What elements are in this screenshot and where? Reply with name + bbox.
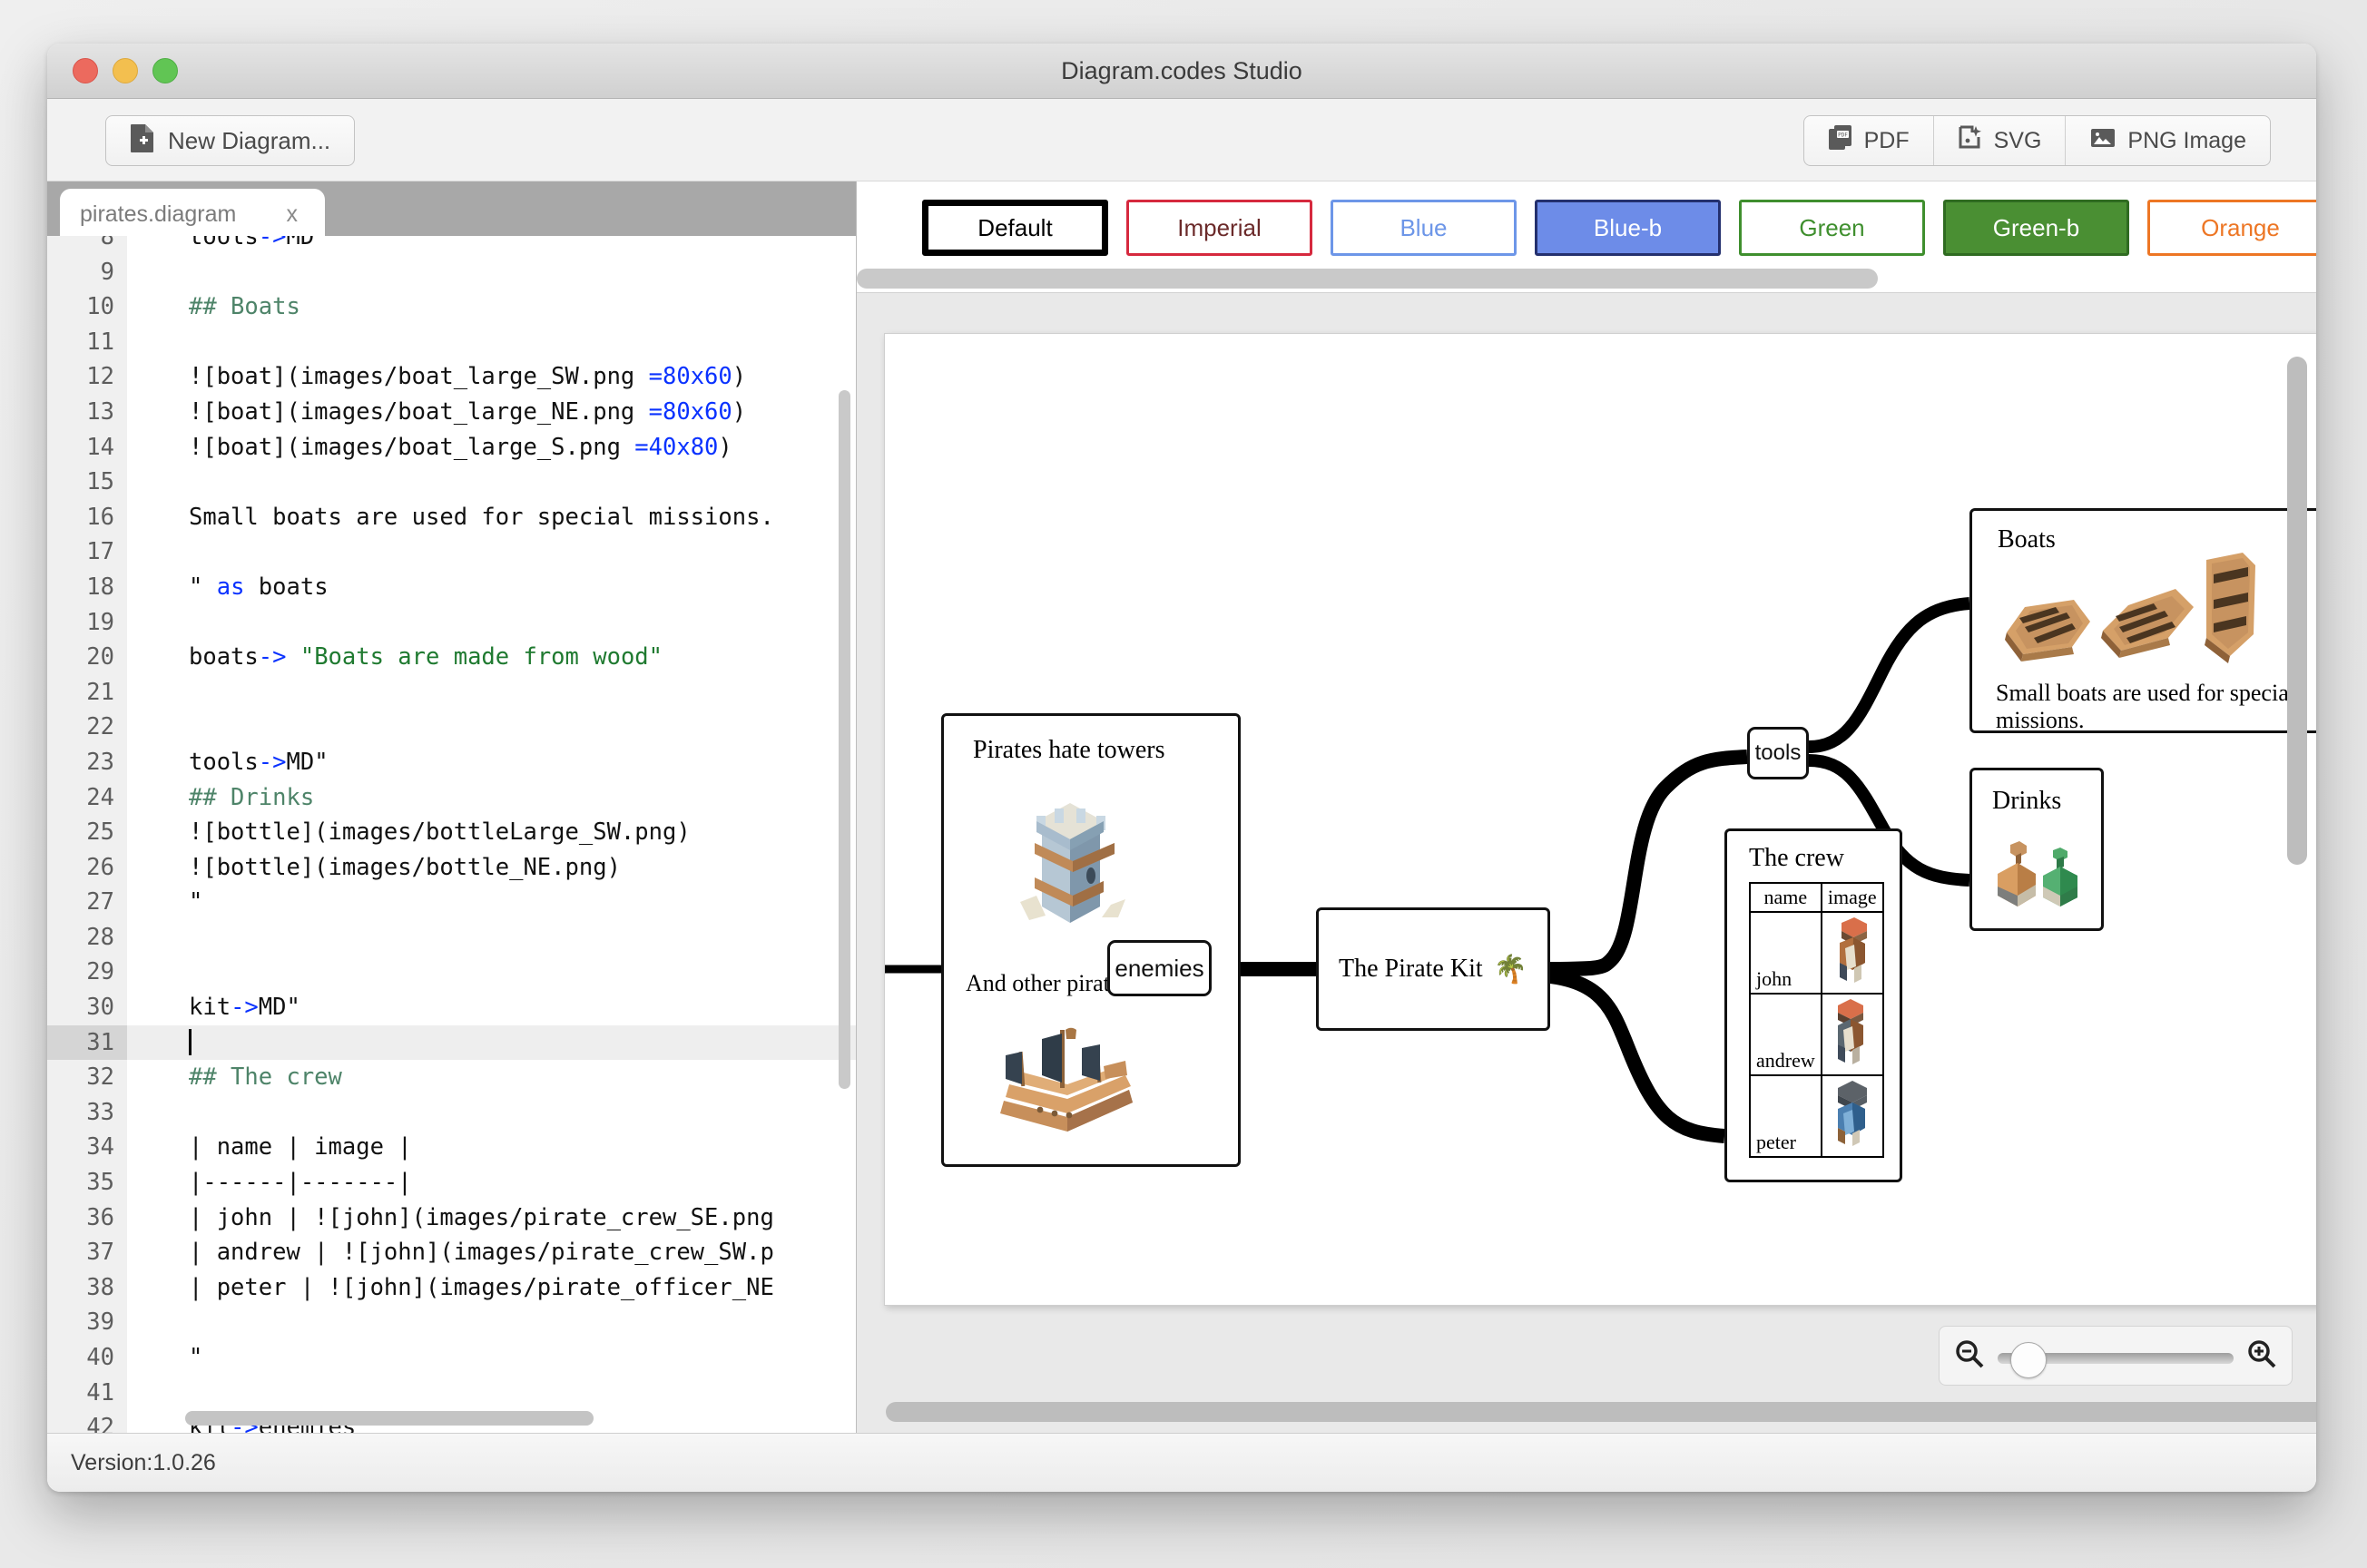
text-caret — [189, 1029, 192, 1055]
line-code[interactable]: tools->MD" — [127, 745, 856, 780]
tab-label: pirates.diagram — [80, 201, 236, 228]
toolbar: New Diagram... PDF PDF — [47, 99, 2316, 181]
app-window: Diagram.codes Studio New Diagram... — [47, 44, 2316, 1492]
code-line[interactable]: 10## Boats — [47, 289, 856, 325]
line-code[interactable]: ![boat](images/boat_large_SW.png =80x60) — [127, 359, 856, 395]
theme-button-default[interactable]: Default — [922, 200, 1108, 256]
code-line[interactable]: 37| andrew | ![john](images/pirate_crew_… — [47, 1235, 856, 1270]
zoom-slider[interactable] — [1998, 1349, 2234, 1362]
theme-button-green[interactable]: Green — [1739, 200, 1925, 256]
line-code[interactable] — [127, 255, 856, 290]
line-code[interactable] — [127, 325, 856, 360]
png-image-icon — [2089, 124, 2117, 158]
line-code[interactable] — [127, 920, 856, 955]
code-line[interactable]: 27" — [47, 885, 856, 920]
code-line[interactable]: 38| peter | ![john](images/pirate_office… — [47, 1270, 856, 1306]
node-towers-title: Pirates hate towers — [973, 736, 1165, 765]
line-number: 29 — [47, 955, 127, 990]
canvas-area: Pirates hate towers — [857, 292, 2316, 1433]
line-number: 41 — [47, 1376, 127, 1411]
line-number: 9 — [47, 255, 127, 290]
line-code[interactable]: | andrew | ![john](images/pirate_crew_SW… — [127, 1235, 856, 1270]
node-drinks-title: Drinks — [1992, 787, 2061, 816]
line-number: 28 — [47, 920, 127, 955]
crew-row: andrew — [1750, 994, 1883, 1075]
line-code[interactable] — [127, 1305, 856, 1340]
code-line[interactable]: 34| name | image | — [47, 1130, 856, 1165]
svg-text:PDF: PDF — [1838, 132, 1848, 138]
zoom-out-icon[interactable] — [1954, 1338, 1985, 1374]
tab-pirates-diagram[interactable]: pirates.diagram x — [60, 189, 325, 240]
theme-button-group[interactable]: DefaultImperialBlueBlue-bGreenGreen-bOra… — [922, 200, 2316, 256]
diagram-canvas[interactable]: Pirates hate towers — [884, 333, 2316, 1306]
code-line[interactable]: 40" — [47, 1340, 856, 1376]
line-number: 20 — [47, 640, 127, 675]
line-code[interactable]: Small boats are used for special mission… — [127, 500, 856, 535]
line-number: 34 — [47, 1130, 127, 1165]
line-code[interactable]: | john | ![john](images/pirate_crew_SE.p… — [127, 1200, 856, 1236]
code-line[interactable]: 12![boat](images/boat_large_SW.png =80x6… — [47, 359, 856, 395]
pdf-icon: PDF — [1828, 124, 1853, 158]
line-number: 25 — [47, 815, 127, 850]
zoom-in-icon[interactable] — [2246, 1338, 2277, 1374]
line-number: 31 — [47, 1025, 127, 1061]
line-number: 22 — [47, 710, 127, 745]
pirate-crew-se-icon — [1822, 912, 1883, 994]
code-line[interactable]: 19 — [47, 605, 856, 641]
theme-button-blue[interactable]: Blue — [1331, 200, 1517, 256]
node-drinks[interactable]: Drinks — [1969, 768, 2104, 931]
line-code[interactable]: | peter | ![john](images/pirate_officer_… — [127, 1270, 856, 1306]
line-number: 14 — [47, 430, 127, 465]
code-line[interactable]: 13![boat](images/boat_large_NE.png =80x6… — [47, 395, 856, 430]
version-label: Version:1.0.26 — [71, 1450, 216, 1476]
zoom-slider-thumb[interactable] — [2010, 1342, 2047, 1378]
line-code[interactable] — [127, 1376, 856, 1411]
preview-pane: DefaultImperialBlueBlue-bGreenGreen-bOra… — [857, 181, 2316, 1433]
line-code[interactable]: | name | image | — [127, 1130, 856, 1165]
line-code[interactable] — [127, 955, 856, 990]
main-split: pirates.diagram x 8tools->MD910## Boats1… — [47, 181, 2316, 1433]
line-number: 11 — [47, 325, 127, 360]
code-line[interactable]: 16Small boats are used for special missi… — [47, 500, 856, 535]
line-code[interactable]: boats-> "Boats are made from wood" — [127, 640, 856, 675]
line-number: 42 — [47, 1410, 127, 1433]
line-code[interactable]: ![bottle](images/bottleLarge_SW.png) — [127, 815, 856, 850]
export-button-group: PDF PDF SVG — [1803, 115, 2271, 166]
line-number: 12 — [47, 359, 127, 395]
code-line[interactable]: 29 — [47, 955, 856, 990]
line-number: 36 — [47, 1200, 127, 1236]
title-bar: Diagram.codes Studio — [47, 44, 2316, 99]
theme-bar: DefaultImperialBlueBlue-bGreenGreen-bOra… — [857, 181, 2316, 292]
code-line[interactable]: 15 — [47, 465, 856, 500]
line-code[interactable]: ## Drinks — [127, 780, 856, 816]
theme-button-orange[interactable]: Orange — [2147, 200, 2316, 256]
theme-button-blue-b[interactable]: Blue-b — [1535, 200, 1721, 256]
close-icon[interactable]: x — [287, 201, 299, 228]
line-code[interactable]: " — [127, 885, 856, 920]
node-boats-caption: Small boats are used for special mission… — [1996, 680, 2316, 734]
crew-name-cell: peter — [1750, 1075, 1822, 1157]
boat-sw-icon — [1994, 580, 2101, 671]
line-number: 40 — [47, 1340, 127, 1376]
new-file-icon — [130, 123, 155, 159]
export-png-label: PNG Image — [2127, 128, 2246, 154]
line-number: 8 — [47, 236, 127, 255]
line-code[interactable]: tools->MD — [127, 236, 856, 255]
tab-strip: pirates.diagram x — [47, 181, 856, 236]
code-line[interactable]: 33 — [47, 1095, 856, 1131]
line-number: 35 — [47, 1165, 127, 1200]
line-number: 15 — [47, 465, 127, 500]
code-line[interactable]: 30kit->MD" — [47, 990, 856, 1025]
status-bar: Version:1.0.26 — [47, 1433, 2316, 1492]
code-line[interactable]: 17 — [47, 534, 856, 570]
line-number: 33 — [47, 1095, 127, 1131]
code-line[interactable]: 36| john | ![john](images/pirate_crew_SE… — [47, 1200, 856, 1236]
code-lines[interactable]: 8tools->MD910## Boats1112![boat](images/… — [47, 236, 856, 1433]
tower-icon — [1002, 779, 1138, 938]
window-title: Diagram.codes Studio — [47, 44, 2316, 98]
export-svg-button[interactable]: SVG — [1934, 116, 2067, 165]
line-code[interactable] — [127, 605, 856, 641]
line-number: 10 — [47, 289, 127, 325]
code-line[interactable]: 9 — [47, 255, 856, 290]
line-code[interactable] — [127, 710, 856, 745]
crew-name-cell: andrew — [1750, 994, 1822, 1075]
pirate-officer-ne-icon — [1822, 1075, 1883, 1157]
line-code[interactable]: " as boats — [127, 570, 856, 605]
node-boats[interactable]: Boats — [1969, 508, 2316, 733]
line-code[interactable]: ![boat](images/boat_large_NE.png =80x60) — [127, 395, 856, 430]
boat-s-icon — [2194, 547, 2263, 668]
export-svg-label: SVG — [1994, 128, 2042, 154]
code-line[interactable]: 25![bottle](images/bottleLarge_SW.png) — [47, 815, 856, 850]
canvas-horizontal-scrollbar[interactable] — [886, 1402, 2316, 1422]
export-pdf-button[interactable]: PDF PDF — [1804, 116, 1934, 165]
code-line[interactable]: 22 — [47, 710, 856, 745]
palm-tree-icon: 🌴 — [1494, 954, 1527, 985]
line-code[interactable]: ![boat](images/boat_large_S.png =40x80) — [127, 430, 856, 465]
line-number: 37 — [47, 1235, 127, 1270]
crew-table: nameimagejohnandrewpeter — [1749, 882, 1884, 1158]
line-number: 18 — [47, 570, 127, 605]
line-number: 16 — [47, 500, 127, 535]
theme-button-imperial[interactable]: Imperial — [1126, 200, 1312, 256]
line-code[interactable]: " — [127, 1340, 856, 1376]
line-code[interactable]: kit->MD" — [127, 990, 856, 1025]
node-boats-title: Boats — [1998, 525, 2056, 554]
node-crew[interactable]: The crew nameimagejohnandrewpeter — [1724, 828, 1902, 1182]
line-number: 39 — [47, 1305, 127, 1340]
code-line[interactable]: 24## Drinks — [47, 780, 856, 816]
crew-row: john — [1750, 912, 1883, 994]
code-line[interactable]: 8tools->MD — [47, 236, 856, 255]
code-line[interactable]: 23tools->MD" — [47, 745, 856, 780]
code-line[interactable]: 20boats-> "Boats are made from wood" — [47, 640, 856, 675]
line-number: 23 — [47, 745, 127, 780]
export-pdf-label: PDF — [1864, 128, 1910, 154]
line-code[interactable] — [127, 1025, 856, 1061]
line-code[interactable] — [127, 675, 856, 710]
crew-column-header: image — [1822, 883, 1883, 912]
line-code[interactable]: |------|-------| — [127, 1165, 856, 1200]
bottle-ne-icon — [2038, 847, 2083, 916]
crew-column-header: name — [1750, 883, 1822, 912]
theme-horizontal-scrollbar[interactable] — [857, 269, 1878, 289]
code-line[interactable]: 21 — [47, 675, 856, 710]
line-number: 17 — [47, 534, 127, 570]
crew-row: peter — [1750, 1075, 1883, 1157]
zoom-control — [1939, 1326, 2293, 1386]
code-line[interactable]: 39 — [47, 1305, 856, 1340]
line-number: 19 — [47, 605, 127, 641]
pirate-ship-icon — [980, 1015, 1153, 1147]
code-line[interactable]: 26![bottle](images/bottle_NE.png) — [47, 850, 856, 886]
new-diagram-label: New Diagram... — [168, 127, 330, 155]
code-line[interactable]: 35|------|-------| — [47, 1165, 856, 1200]
node-pirate-kit[interactable]: The Pirate Kit 🌴 — [1316, 907, 1550, 1031]
editor-vertical-scrollbar[interactable] — [839, 390, 850, 1089]
theme-button-green-b[interactable]: Green-b — [1943, 200, 2129, 256]
line-number: 24 — [47, 780, 127, 816]
editor-pane: pirates.diagram x 8tools->MD910## Boats1… — [47, 181, 857, 1433]
code-line[interactable]: 14![boat](images/boat_large_S.png =40x80… — [47, 430, 856, 465]
line-code[interactable]: ## The crew — [127, 1060, 856, 1095]
line-code[interactable] — [127, 534, 856, 570]
code-line[interactable]: 11 — [47, 325, 856, 360]
line-number: 30 — [47, 990, 127, 1025]
line-number: 26 — [47, 850, 127, 886]
line-number: 27 — [47, 885, 127, 920]
line-number: 21 — [47, 675, 127, 710]
line-code[interactable] — [127, 1095, 856, 1131]
canvas-vertical-scrollbar[interactable] — [2287, 357, 2307, 865]
crew-name-cell: john — [1750, 912, 1822, 994]
line-number: 32 — [47, 1060, 127, 1095]
code-line[interactable]: 28 — [47, 920, 856, 955]
bottle-large-sw-icon — [1990, 839, 2041, 916]
line-number: 38 — [47, 1270, 127, 1306]
pirate-crew-sw-icon — [1822, 994, 1883, 1075]
code-editor[interactable]: 8tools->MD910## Boats1112![boat](images/… — [47, 236, 856, 1433]
enemies-label: enemies — [1115, 955, 1203, 983]
code-line[interactable]: 32## The crew — [47, 1060, 856, 1095]
line-code[interactable] — [127, 465, 856, 500]
code-line[interactable]: 31 — [47, 1025, 856, 1061]
tools-label: tools — [1755, 740, 1802, 766]
line-code[interactable]: ![bottle](images/bottle_NE.png) — [127, 850, 856, 886]
node-crew-title: The crew — [1749, 844, 1844, 873]
line-code[interactable]: ## Boats — [127, 289, 856, 325]
new-diagram-button[interactable]: New Diagram... — [105, 115, 355, 166]
code-line[interactable]: 41 — [47, 1376, 856, 1411]
node-pirate-kit-label: The Pirate Kit — [1339, 955, 1483, 984]
edge-label-enemies[interactable]: enemies — [1107, 940, 1212, 996]
boat-ne-icon — [2096, 574, 2203, 666]
edge-label-tools[interactable]: tools — [1747, 727, 1809, 779]
line-number: 13 — [47, 395, 127, 430]
code-line[interactable]: 18" as boats — [47, 570, 856, 605]
svg-icon — [1958, 124, 1983, 158]
export-png-button[interactable]: PNG Image — [2066, 116, 2270, 165]
editor-horizontal-scrollbar[interactable] — [185, 1411, 594, 1426]
